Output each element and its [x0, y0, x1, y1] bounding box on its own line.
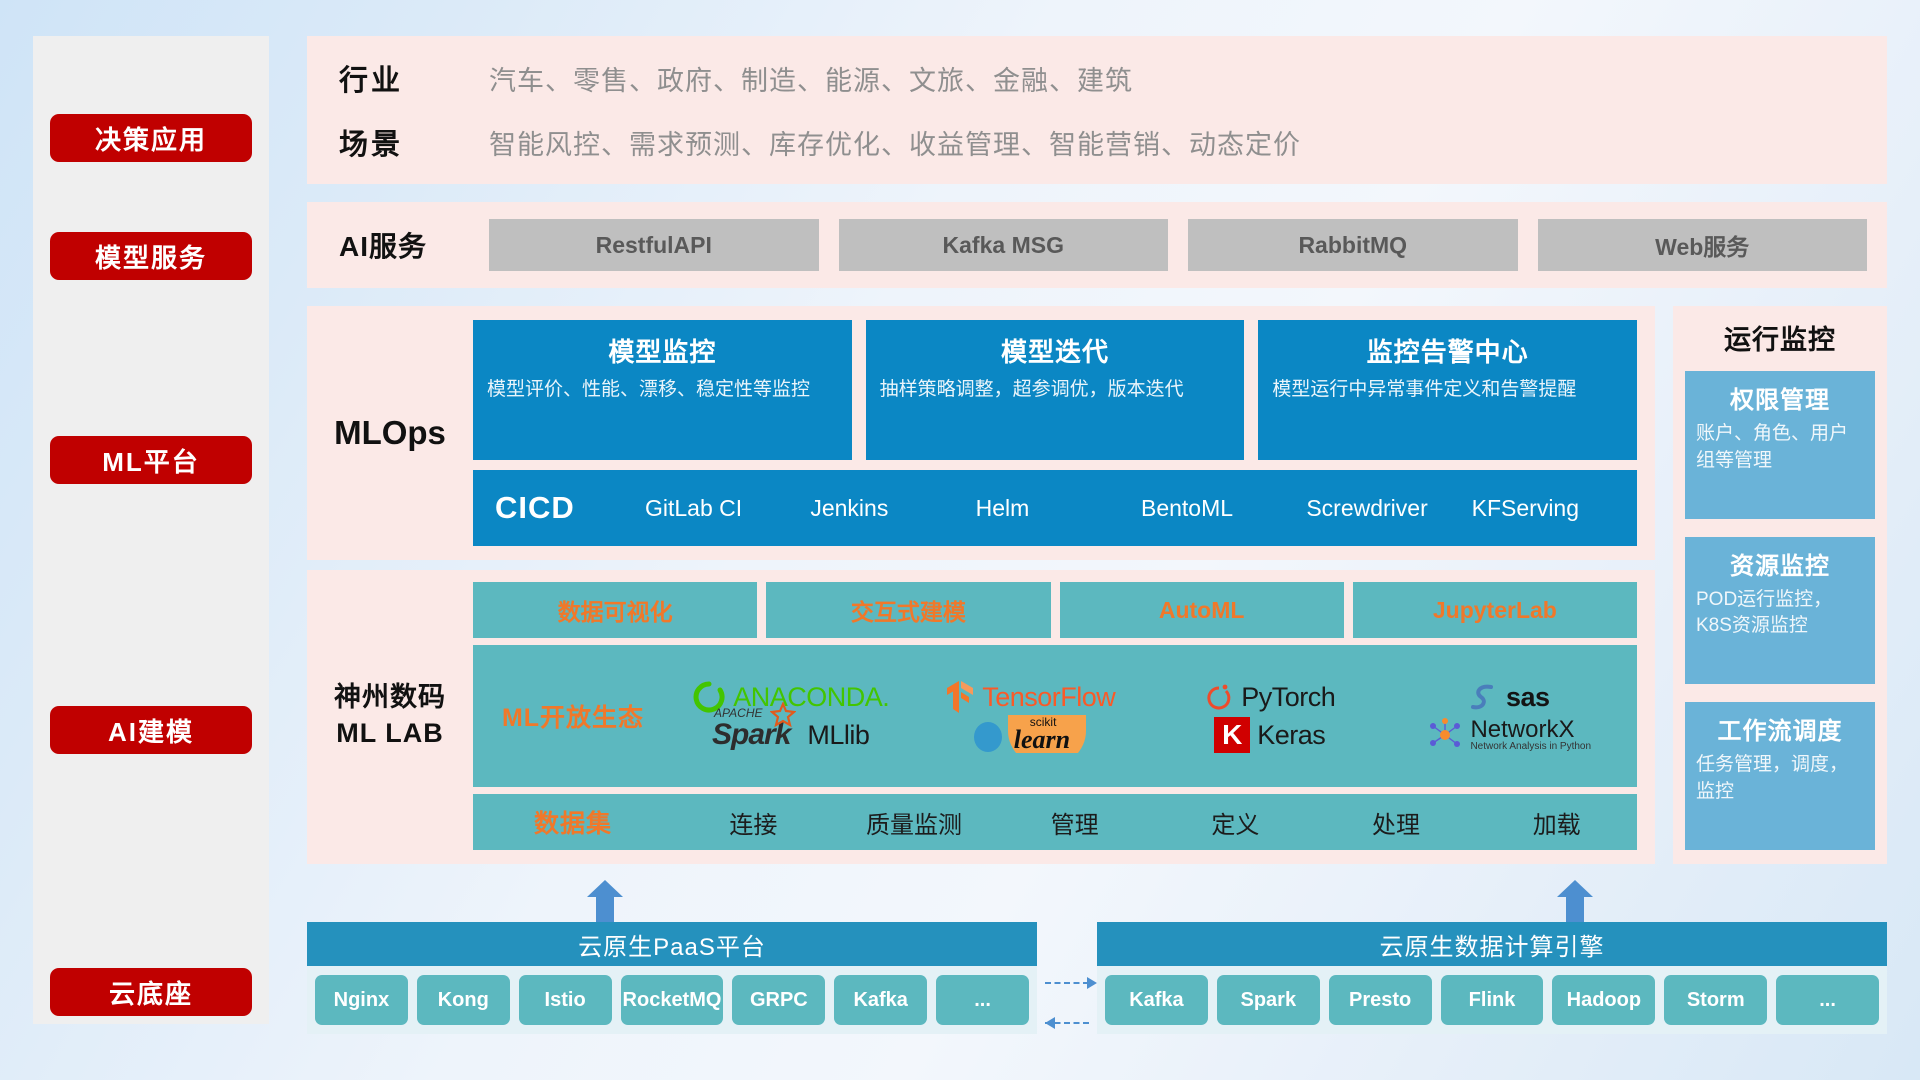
mlops-card-alert-center[interactable]: 监控告警中心 模型运行中异常事件定义和告警提醒 [1258, 320, 1637, 460]
stage-rail: 决策应用 模型服务 ML平台 AI建模 云底座 [33, 36, 269, 1024]
ml-lab-label-line1: 神州数码 [334, 680, 446, 716]
mlops-card-model-iteration[interactable]: 模型迭代 抽样策略调整，超参调优，版本迭代 [866, 320, 1245, 460]
paas-title: 云原生PaaS平台 [307, 922, 1037, 966]
tensorflow-logo: TensorFlow [945, 679, 1115, 715]
keras-icon: K [1214, 717, 1250, 753]
scenario-row: 场景 智能风控、需求预测、库存优化、收益管理、智能营销、动态定价 [339, 121, 1887, 163]
dataset-item-loading[interactable]: 加载 [1476, 805, 1637, 840]
card-title: 权限管理 [1696, 380, 1864, 415]
runtime-monitor-rail: 运行监控 权限管理 账户、角色、用户组等管理 资源监控 POD运行监控，K8S资… [1673, 306, 1887, 864]
networkx-subtitle: Network Analysis in Python [1470, 742, 1591, 752]
stage-pill-cloud-base[interactable]: 云底座 [50, 968, 252, 1016]
monitor-card-workflow-scheduling[interactable]: 工作流调度 任务管理，调度，监控 [1685, 702, 1875, 850]
card-desc: 任务管理，调度，监控 [1696, 752, 1864, 805]
mlops-band: MLOps 模型监控 模型评价、性能、漂移、稳定性等监控 模型迭代 抽样策略调整… [307, 306, 1655, 560]
industry-row: 行业 汽车、零售、政府、制造、能源、文旅、金融、建筑 [339, 57, 1887, 99]
dataset-item-quality-monitoring[interactable]: 质量监测 [834, 805, 995, 840]
monitor-card-resource-monitoring[interactable]: 资源监控 POD运行监控，K8S资源监控 [1685, 537, 1875, 685]
industry-label: 行业 [339, 57, 489, 99]
cicd-item-gitlab-ci[interactable]: GitLab CI [645, 495, 810, 521]
paas-chip-more[interactable]: ... [936, 975, 1029, 1025]
card-desc: 模型运行中异常事件定义和告警提醒 [1272, 377, 1623, 404]
arrow-up-paas-icon [587, 880, 623, 922]
cicd-item-kfserving[interactable]: KFServing [1472, 495, 1637, 521]
spark-star-icon [770, 702, 796, 728]
card-desc: 账户、角色、用户组等管理 [1696, 421, 1864, 474]
keras-mark: K [1222, 719, 1242, 751]
compute-chip-presto[interactable]: Presto [1329, 975, 1432, 1025]
compute-chip-hadoop[interactable]: Hadoop [1552, 975, 1655, 1025]
mlops-label: MLOps [307, 320, 473, 546]
spark-mllib-logo: APACHE Spark MLlib [712, 718, 869, 752]
compute-engine-title: 云原生数据计算引擎 [1097, 922, 1887, 966]
decision-app-band: 行业 汽车、零售、政府、制造、能源、文旅、金融、建筑 场景 智能风控、需求预测、… [307, 36, 1887, 184]
compute-chip-spark[interactable]: Spark [1217, 975, 1320, 1025]
card-title: 模型监控 [487, 332, 838, 369]
stage-pill-ml-platform[interactable]: ML平台 [50, 436, 252, 484]
paas-chip-rocketmq[interactable]: RocketMQ [621, 975, 724, 1025]
card-title: 资源监控 [1696, 546, 1864, 581]
cicd-item-screwdriver[interactable]: Screwdriver [1306, 495, 1471, 521]
cicd-item-helm[interactable]: Helm [976, 495, 1141, 521]
card-desc: 模型评价、性能、漂移、稳定性等监控 [487, 377, 838, 404]
tool-chip-data-visualization[interactable]: 数据可视化 [473, 582, 757, 638]
stage-label: ML平台 [102, 442, 200, 479]
ai-service-chip-rabbitmq[interactable]: RabbitMQ [1188, 219, 1518, 271]
stage-pill-ai-modeling[interactable]: AI建模 [50, 706, 252, 754]
scenario-label: 场景 [339, 121, 489, 163]
networkx-logo: NetworkX Network Analysis in Python [1427, 717, 1591, 753]
stage-pill-model-service[interactable]: 模型服务 [50, 232, 252, 280]
tool-chip-interactive-modeling[interactable]: 交互式建模 [766, 582, 1050, 638]
ml-lab-label: 神州数码 ML LAB [307, 582, 473, 850]
cicd-title: CICD [495, 490, 645, 526]
compute-chip-kafka[interactable]: Kafka [1105, 975, 1208, 1025]
sas-wordmark: sas [1506, 682, 1550, 713]
paas-chip-kafka[interactable]: Kafka [834, 975, 927, 1025]
ai-service-label: AI服务 [339, 225, 489, 265]
learn-wordmark: learn [1014, 725, 1070, 755]
tensorflow-wordmark: TensorFlow [982, 682, 1115, 713]
networkx-icon [1427, 717, 1463, 753]
paas-chip-nginx[interactable]: Nginx [315, 975, 408, 1025]
stage-label: 云底座 [109, 974, 193, 1011]
paas-chip-kong[interactable]: Kong [417, 975, 510, 1025]
ai-service-chip-kafka-msg[interactable]: Kafka MSG [839, 219, 1169, 271]
card-desc: POD运行监控，K8S资源监控 [1696, 587, 1864, 640]
paas-chip-grpc[interactable]: GRPC [732, 975, 825, 1025]
dataset-title: 数据集 [473, 804, 673, 840]
cloud-base-section: 云原生PaaS平台 Nginx Kong Istio RocketMQ GRPC… [307, 880, 1887, 1045]
keras-logo: K Keras [1214, 717, 1325, 753]
spark-apache-label: APACHE [714, 706, 762, 720]
mlops-card-model-monitoring[interactable]: 模型监控 模型评价、性能、漂移、稳定性等监控 [473, 320, 852, 460]
paas-chip-istio[interactable]: Istio [519, 975, 612, 1025]
paas-group: 云原生PaaS平台 Nginx Kong Istio RocketMQ GRPC… [307, 922, 1037, 1034]
arrow-up-compute-icon [1557, 880, 1593, 922]
card-desc: 抽样策略调整，超参调优，版本迭代 [880, 377, 1231, 404]
ml-lab-band: 神州数码 ML LAB 数据可视化 交互式建模 AutoML JupyterLa… [307, 570, 1655, 864]
stage-label: AI建模 [108, 712, 194, 749]
stage-label: 模型服务 [95, 238, 207, 275]
main-column: 行业 汽车、零售、政府、制造、能源、文旅、金融、建筑 场景 智能风控、需求预测、… [307, 36, 1887, 864]
monitor-card-permission-management[interactable]: 权限管理 账户、角色、用户组等管理 [1685, 371, 1875, 519]
industry-text: 汽车、零售、政府、制造、能源、文旅、金融、建筑 [489, 59, 1133, 98]
stage-label: 决策应用 [95, 120, 207, 157]
dataset-item-processing[interactable]: 处理 [1316, 805, 1477, 840]
pytorch-logo: PyTorch [1204, 680, 1335, 714]
pytorch-wordmark: PyTorch [1241, 682, 1335, 713]
runtime-monitor-title: 运行监控 [1685, 318, 1875, 357]
compute-chip-flink[interactable]: Flink [1441, 975, 1544, 1025]
ml-ecosystem-row: ML开放生态 ANACONDA. [473, 645, 1637, 787]
cicd-item-bentoml[interactable]: BentoML [1141, 495, 1306, 521]
dataset-item-definition[interactable]: 定义 [1155, 805, 1316, 840]
scenario-text: 智能风控、需求预测、库存优化、收益管理、智能营销、动态定价 [489, 123, 1301, 162]
compute-chip-more[interactable]: ... [1776, 975, 1879, 1025]
tensorflow-icon [945, 679, 975, 715]
card-title: 监控告警中心 [1272, 332, 1623, 369]
cicd-item-jenkins[interactable]: Jenkins [810, 495, 975, 521]
scikit-learn-logo: scikit learn [971, 717, 1090, 753]
pytorch-icon [1204, 680, 1234, 714]
dataset-item-management[interactable]: 管理 [994, 805, 1155, 840]
sas-icon [1469, 681, 1499, 713]
sas-logo: sas [1469, 681, 1550, 713]
ai-service-band: AI服务 RestfulAPI Kafka MSG RabbitMQ Web服务 [307, 202, 1887, 288]
networkx-wordmark: NetworkX [1470, 718, 1591, 742]
ml-lab-label-line2: ML LAB [336, 716, 444, 752]
ai-service-chip-web-service[interactable]: Web服务 [1538, 219, 1868, 271]
card-title: 工作流调度 [1696, 711, 1864, 746]
compute-chip-storm[interactable]: Storm [1664, 975, 1767, 1025]
compute-engine-group: 云原生数据计算引擎 Kafka Spark Presto Flink Hadoo… [1097, 922, 1887, 1034]
ai-service-chip-restfulapi[interactable]: RestfulAPI [489, 219, 819, 271]
dataset-item-connect[interactable]: 连接 [673, 805, 834, 840]
dataset-row: 数据集 连接 质量监测 管理 定义 处理 加载 [473, 794, 1637, 850]
tool-chip-automl[interactable]: AutoML [1060, 582, 1344, 638]
keras-wordmark: Keras [1257, 720, 1325, 751]
stage-pill-decision-app[interactable]: 决策应用 [50, 114, 252, 162]
mllib-wordmark: MLlib [807, 720, 869, 751]
scikit-blue-blob-icon [971, 717, 1005, 753]
cicd-bar: CICD GitLab CI Jenkins Helm BentoML Scre… [473, 470, 1637, 546]
ml-ecosystem-label: ML开放生态 [473, 698, 673, 734]
tool-chip-jupyterlab[interactable]: JupyterLab [1353, 582, 1637, 638]
card-title: 模型迭代 [880, 332, 1231, 369]
